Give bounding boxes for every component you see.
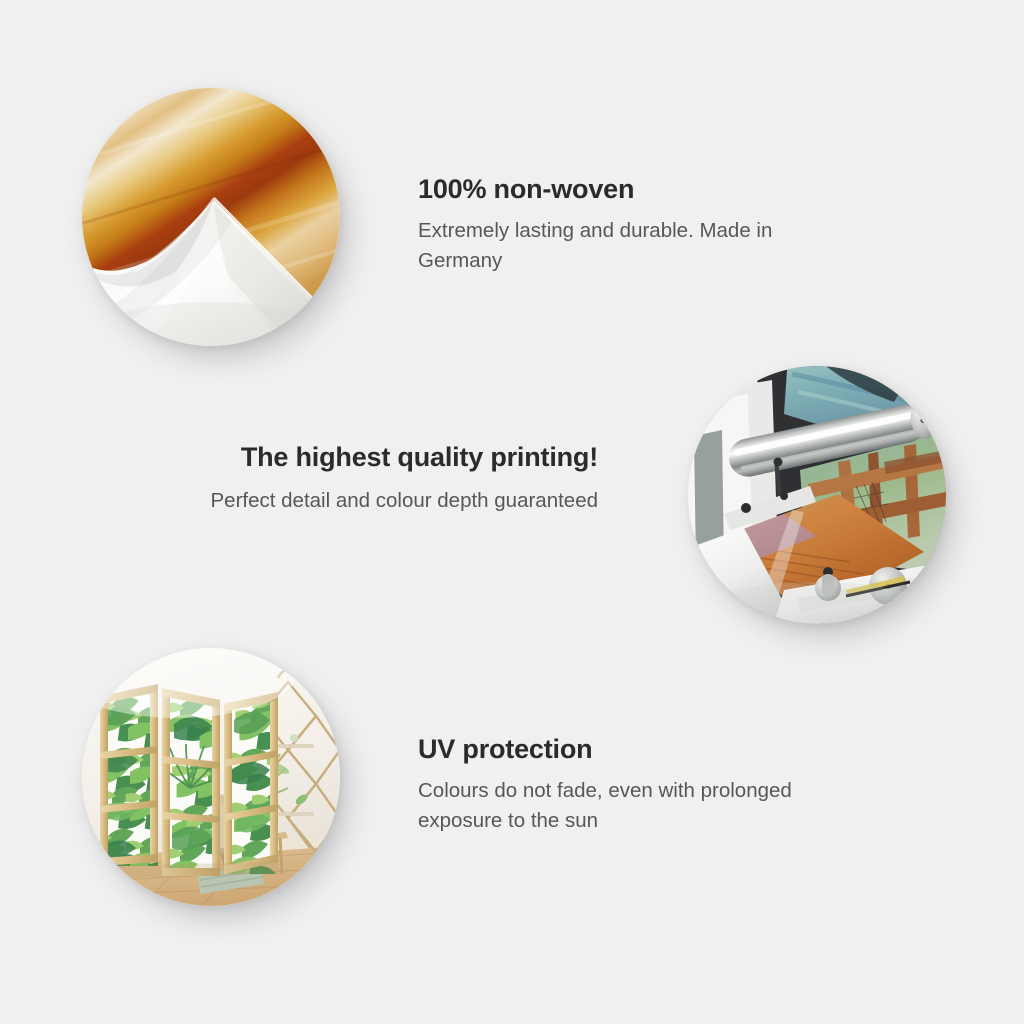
feature-heading-non-woven: 100% non-woven (418, 174, 858, 205)
feature-heading-uv-protection: UV protection (418, 734, 818, 765)
feature-text-printing: The highest quality printing! Perfect de… (198, 442, 598, 516)
feature-body-printing: Perfect detail and colour depth guarante… (198, 486, 598, 516)
printing-press-photo (688, 366, 946, 624)
feature-body-uv-protection: Colours do not fade, even with prolonged… (418, 776, 818, 835)
feature-text-non-woven: 100% non-woven Extremely lasting and dur… (418, 174, 858, 275)
feature-heading-printing: The highest quality printing! (198, 442, 598, 473)
feature-text-uv-protection: UV protection Colours do not fade, even … (418, 734, 818, 835)
feature-body-non-woven: Extremely lasting and durable. Made in G… (418, 216, 858, 275)
wallpaper-peel-photo (82, 88, 340, 346)
feature-graphic-canvas: 100% non-woven Extremely lasting and dur… (0, 0, 1024, 1024)
room-divider-photo (82, 648, 340, 906)
